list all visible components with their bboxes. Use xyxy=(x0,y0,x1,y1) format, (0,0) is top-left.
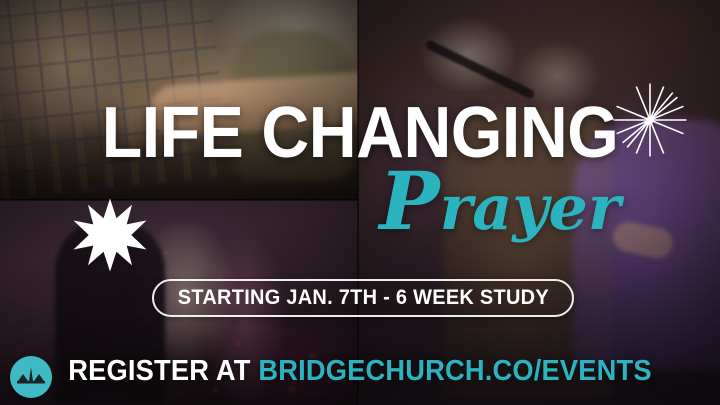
script-remaining-letters: rayer xyxy=(440,171,621,244)
bridge-logo-icon xyxy=(16,366,46,388)
bridge-church-logo[interactable] xyxy=(10,356,52,398)
register-prefix-label: REGISTER AT xyxy=(68,355,258,387)
study-schedule-badge: STARTING JAN. 7TH - 6 WEEK STUDY xyxy=(152,279,574,317)
script-initial-letter: P xyxy=(379,154,439,248)
event-promo-poster: LIFE CHANGING Prayer STARTING JAN. 7TH -… xyxy=(0,0,720,405)
status-badge: STARTING JAN. 7TH - 6 WEEK STUDY xyxy=(177,286,548,310)
register-url-link[interactable]: BRIDGECHURCH.CO/EVENTS xyxy=(258,355,651,387)
script-subtitle: Prayer xyxy=(335,170,665,239)
registration-call-to-action: REGISTER AT BRIDGECHURCH.CO/EVENTS xyxy=(22,355,699,388)
ten-point-star-icon xyxy=(72,197,148,273)
poster-content-layer: LIFE CHANGING Prayer STARTING JAN. 7TH -… xyxy=(0,0,720,405)
page-title: LIFE CHANGING xyxy=(29,97,691,169)
